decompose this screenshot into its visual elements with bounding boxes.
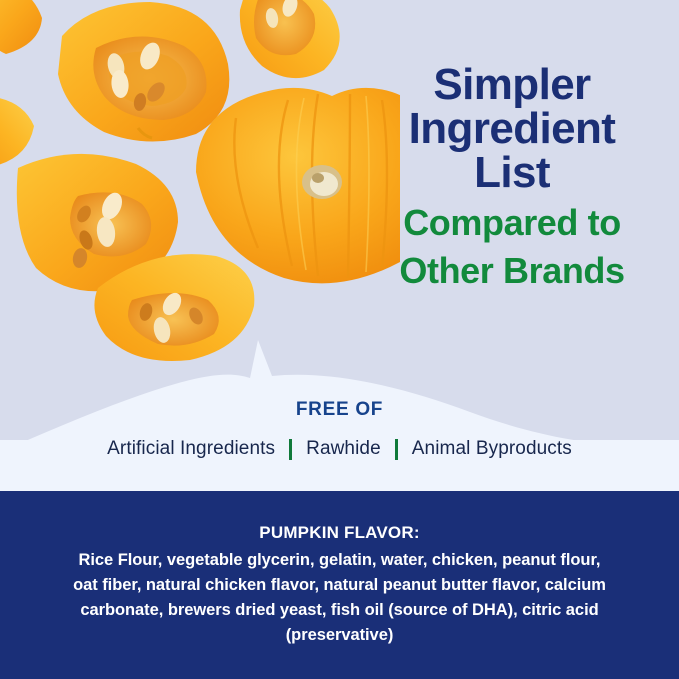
pumpkin-collage — [0, 0, 400, 370]
free-of-item-artificial-ingredients: Artificial Ingredients — [107, 438, 275, 460]
headline-sub-line-1: Compared to — [352, 202, 672, 243]
free-of-divider-2 — [395, 439, 398, 460]
poster-root: Simpler Ingredient List Compared to Othe… — [0, 0, 679, 679]
pumpkin-wedge-top-right — [240, 0, 340, 78]
pumpkin-wedge-corner — [0, 0, 42, 54]
pumpkin-wedge-left-upper — [0, 96, 34, 166]
free-of-divider-1 — [289, 439, 292, 460]
headline-line-1: Simpler — [352, 63, 672, 107]
headline-sub-line-2: Other Brands — [352, 250, 672, 291]
headline-block: Simpler Ingredient List Compared to Othe… — [352, 63, 672, 291]
headline-line-3: List — [352, 151, 672, 195]
free-of-item-animal-byproducts: Animal Byproducts — [412, 438, 572, 460]
ingredients-text: Rice Flour, vegetable glycerin, gelatin,… — [70, 548, 609, 648]
free-of-row: Artificial Ingredients Rawhide Animal By… — [0, 438, 679, 460]
free-of-title: FREE OF — [0, 399, 679, 421]
flavor-title: PUMPKIN FLAVOR: — [0, 523, 679, 543]
free-of-item-rawhide: Rawhide — [306, 438, 381, 460]
headline-line-2: Ingredient — [352, 107, 672, 151]
pumpkin-wedge-top-large — [58, 2, 229, 142]
